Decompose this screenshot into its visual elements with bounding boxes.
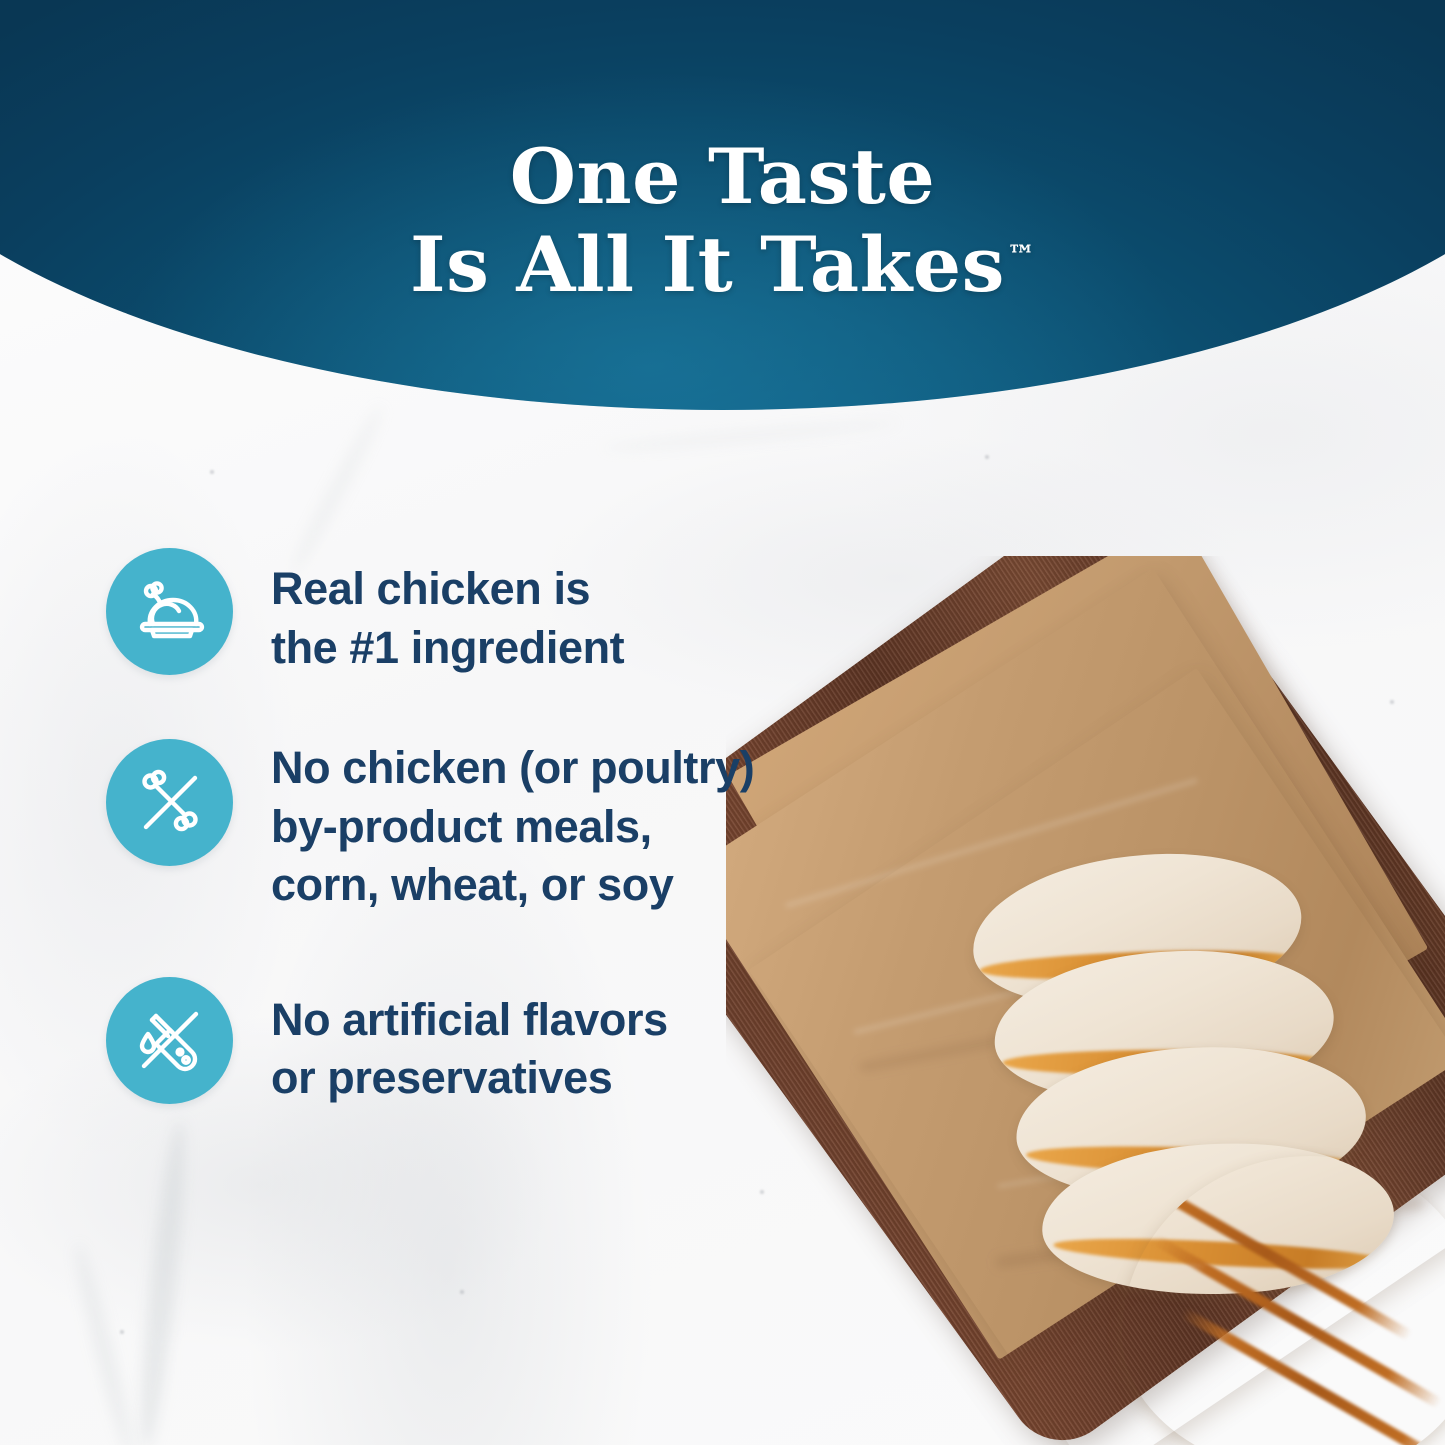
headline-line-2-text: Is All It Takes <box>410 220 1005 309</box>
list-item-label: No artificial flavors or preservatives <box>271 977 668 1108</box>
feature-list: Real chicken is the #1 ingredient No chi… <box>106 548 866 1108</box>
marble-vein <box>133 1120 193 1445</box>
list-item: Real chicken is the #1 ingredient <box>106 548 866 677</box>
marble-speck <box>460 1290 464 1294</box>
marble-vein <box>600 417 900 455</box>
chicken-slice-stack <box>972 856 1445 1416</box>
trademark-symbol: ™ <box>1007 239 1035 272</box>
marble-speck <box>210 470 214 474</box>
no-bone-icon <box>106 739 233 866</box>
no-test-tube-icon <box>106 977 233 1104</box>
headline-line-1: One Taste <box>0 133 1445 221</box>
headline-line-2: Is All It Takes™ <box>0 221 1445 309</box>
list-item-label: Real chicken is the #1 ingredient <box>271 548 624 677</box>
marble-vein <box>69 1241 140 1445</box>
roast-chicken-platter-icon <box>106 548 233 675</box>
list-item: No chicken (or poultry) by-product meals… <box>106 739 866 915</box>
list-item-label: No chicken (or poultry) by-product meals… <box>271 739 754 915</box>
promo-image: One Taste Is All It Takes™ Real chicken … <box>0 0 1445 1445</box>
grill-mark <box>1122 1166 1413 1341</box>
page-title: One Taste Is All It Takes™ <box>0 133 1445 309</box>
list-item: No artificial flavors or preservatives <box>106 977 866 1108</box>
marble-speck <box>985 455 989 459</box>
grilled-chicken-breast <box>1122 1156 1445 1445</box>
marble-speck <box>120 1330 124 1334</box>
